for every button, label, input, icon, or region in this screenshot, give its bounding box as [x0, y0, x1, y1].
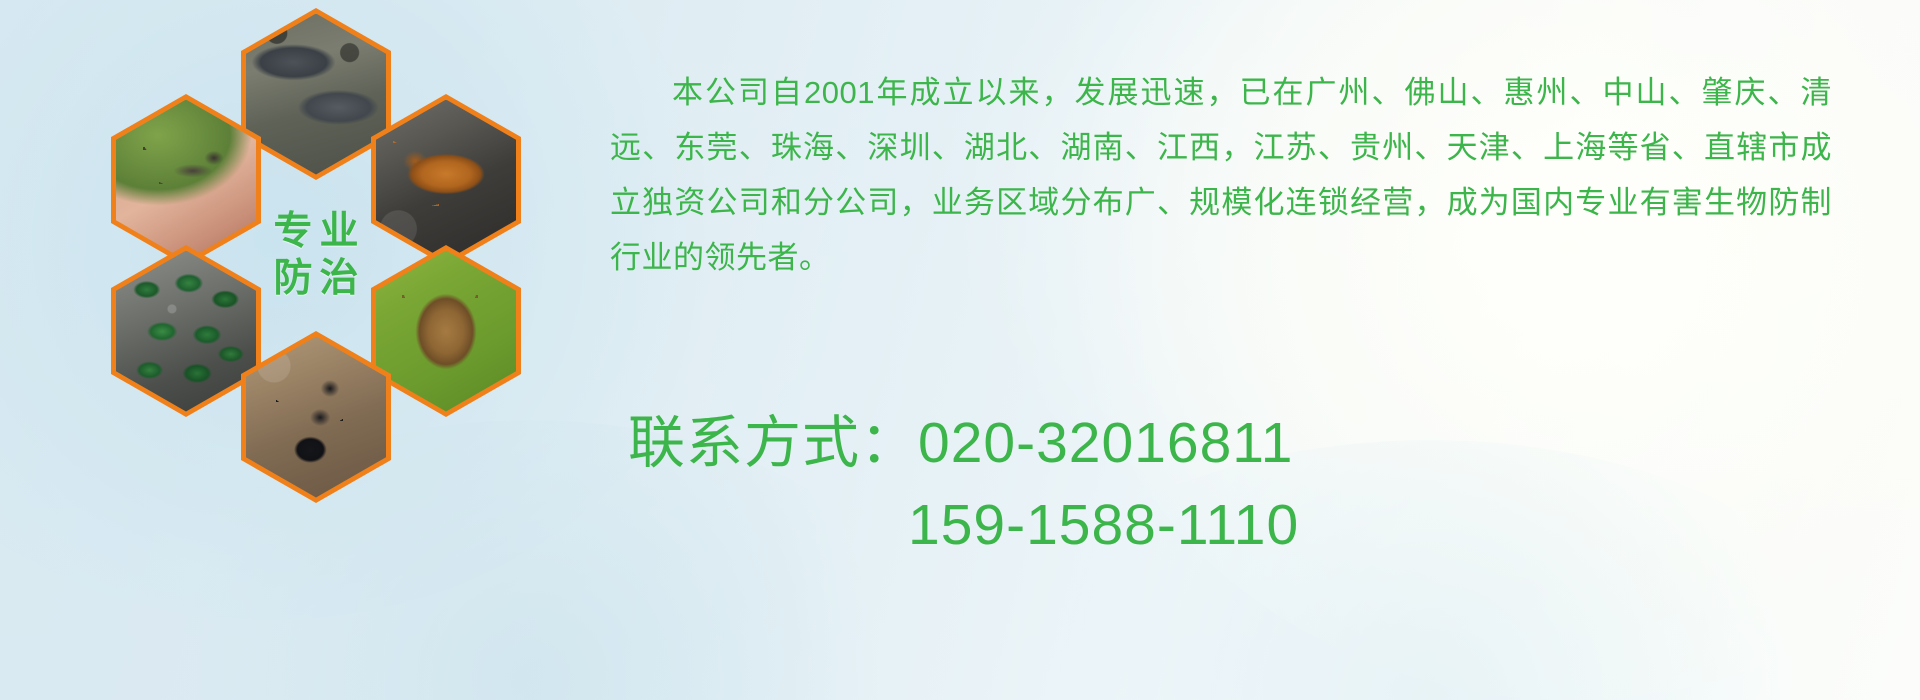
hex-photo-stinkbug	[371, 245, 521, 417]
honeycomb-photo-cluster: 专业 防治	[95, 8, 595, 568]
hex-photo-flies-frame	[116, 251, 256, 412]
slogan-line-2: 防治	[266, 259, 365, 298]
stinkbug-image	[376, 251, 516, 412]
hex-photo-rats-frame	[246, 14, 386, 175]
hex-photo-rats	[241, 8, 391, 180]
company-intro-paragraph: 本公司自2001年成立以来，发展迅速，已在广州、佛山、惠州、中山、肇庆、清远、东…	[610, 65, 1832, 285]
hex-photo-ant	[241, 331, 391, 503]
hex-photo-stinkbug-frame	[376, 251, 516, 412]
contact-block: 联系方式：020-32016811 159-1588-1110	[628, 402, 1808, 566]
contact-line-landline: 联系方式：020-32016811	[628, 402, 1808, 484]
mosquito-image	[116, 100, 256, 261]
contact-line-mobile: 159-1588-1110	[628, 484, 1808, 566]
ant-image	[246, 337, 386, 498]
hex-photo-cockroach-frame	[376, 100, 516, 261]
company-intro-banner: 专业 防治 本公司自2001年成立以来，发展迅速，已在广州、佛山、惠州、中山、肇…	[0, 0, 1920, 700]
cockroach-image	[376, 100, 516, 261]
hex-slogan-cell: 专业 防治	[241, 169, 391, 341]
hex-photo-mosquito-frame	[116, 100, 256, 261]
hex-photo-mosquito	[111, 94, 261, 266]
intro-copy-block: 本公司自2001年成立以来，发展迅速，已在广州、佛山、惠州、中山、肇庆、清远、东…	[610, 34, 1910, 316]
slogan-block: 专业 防治	[241, 169, 391, 341]
hex-photo-ant-frame	[246, 337, 386, 498]
rats-image	[246, 14, 386, 175]
flies-image	[116, 251, 256, 412]
hex-photo-flies	[111, 245, 261, 417]
hex-photo-cockroach	[371, 94, 521, 266]
slogan-line-1: 专业	[266, 212, 365, 251]
